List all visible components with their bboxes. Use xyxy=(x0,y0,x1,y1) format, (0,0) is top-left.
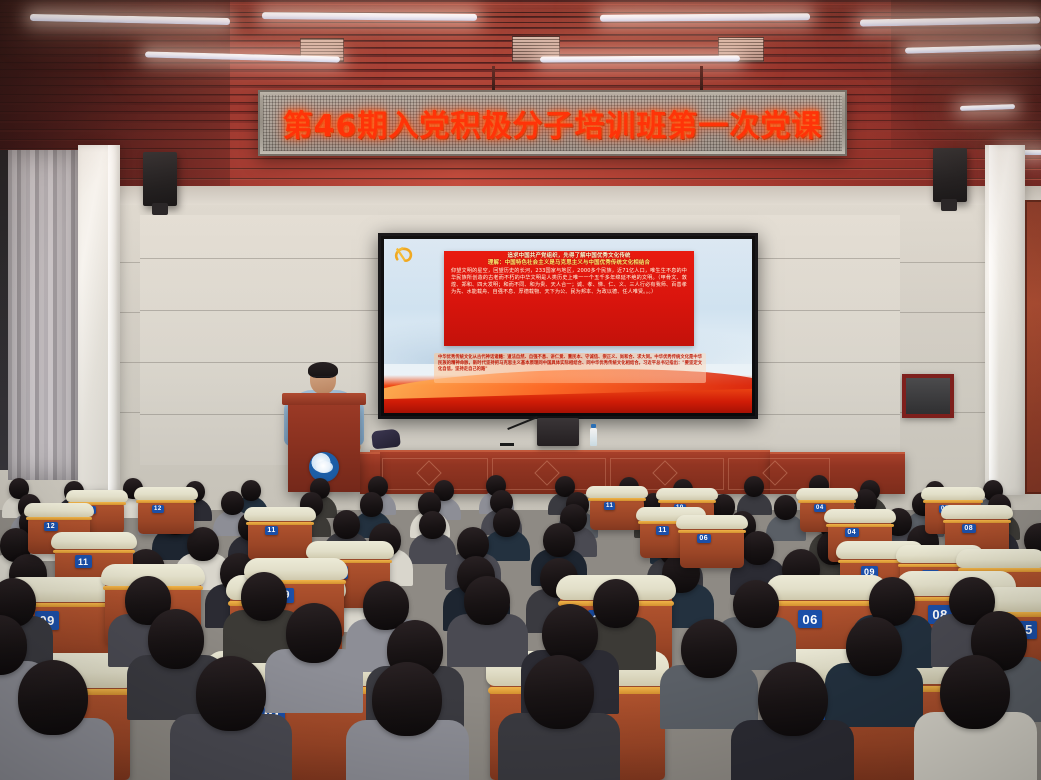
audience-head xyxy=(419,511,446,540)
seat-headrest xyxy=(586,486,648,498)
audience-head xyxy=(464,576,510,625)
slide-footer-text: 中华优秀传统文化从古代神话诸籍：道法自然、自强不息、讲仁爱、重民本、守诚信、崇正… xyxy=(438,355,702,374)
seat-headrest xyxy=(244,507,316,521)
auditorium-seat[interactable]: 11 xyxy=(590,490,644,530)
seat-number-plate: 12 xyxy=(152,505,164,513)
seat-headrest xyxy=(656,488,718,500)
seat-number-plate: 11 xyxy=(604,502,615,510)
right-pillar xyxy=(985,145,1025,495)
audience-head xyxy=(542,604,598,663)
audience-head xyxy=(196,656,266,730)
party-hammer-sickle-emblem xyxy=(392,245,418,267)
lecture-hall-photo: 第46期入党积极分子培训班第一次党课 追求中国共产党组织，先得了解中国优秀文化传… xyxy=(0,0,1041,780)
audience-head xyxy=(940,655,1010,729)
pillar-sheen-right xyxy=(989,145,999,495)
audience-member xyxy=(744,476,764,514)
audience-member xyxy=(493,508,520,559)
ceiling-light-6 xyxy=(540,55,740,62)
right-wall-display-panel xyxy=(902,374,954,418)
left-speaker-bracket xyxy=(152,203,168,215)
seat-trim-pipe xyxy=(246,522,314,525)
audience-head xyxy=(333,510,360,539)
seat-trim-pipe xyxy=(826,524,894,527)
audience-head xyxy=(846,617,902,676)
seat-trim-pipe xyxy=(588,498,646,501)
audience-member xyxy=(241,572,287,659)
stage-water-bottle xyxy=(590,428,597,446)
audience-head xyxy=(593,579,639,628)
seat-headrest xyxy=(921,487,985,500)
banner-support-right xyxy=(700,66,703,92)
auditorium-seat[interactable]: 06 xyxy=(680,520,744,568)
right-speaker-bracket xyxy=(941,199,957,211)
pillar-sheen-left xyxy=(108,145,118,490)
seat-headrest xyxy=(306,541,394,559)
left-wall-speaker xyxy=(143,152,177,206)
audience-head xyxy=(742,531,774,565)
seat-number-plate: 11 xyxy=(265,526,278,535)
audience-member xyxy=(286,603,342,709)
seat-headrest xyxy=(824,509,896,523)
stage-bottle-cap xyxy=(591,424,596,428)
projection-screen: 追求中国共产党组织，先得了解中国优秀文化传统 理解：中国特色社会主义是马克思主义… xyxy=(384,239,752,413)
seat-trim-pipe xyxy=(923,500,983,503)
seat-number-plate: 11 xyxy=(75,555,92,568)
left-curtain xyxy=(8,150,80,480)
right-wall-wood-trim xyxy=(1025,200,1041,494)
led-banner-text: 第46期入党积极分子培训班第一次党课 xyxy=(260,101,845,145)
seat-trim-pipe xyxy=(658,500,716,503)
audience-head xyxy=(774,495,797,519)
slide-title-line2: 理解：中国特色社会主义是马克思主义与中国优秀传统文化相结合 xyxy=(447,260,691,267)
audience-member xyxy=(419,511,446,562)
audience-head xyxy=(681,619,737,678)
slide-footer-block: 中华优秀传统文化从古代神话诸籍：道法自然、自强不息、讲仁爱、重民本、守诚信、崇正… xyxy=(434,353,706,383)
seat-trim-pipe xyxy=(26,517,92,520)
seat-headrest xyxy=(796,488,858,500)
seat-number-plate: 04 xyxy=(814,504,826,512)
led-banner: 第46期入党积极分子培训班第一次党课 xyxy=(258,90,847,156)
audience-head xyxy=(543,523,575,557)
audience-member xyxy=(774,495,797,539)
seat-headrest xyxy=(676,515,748,529)
seat-number-plate: 12 xyxy=(44,522,58,531)
auditorium-seat[interactable]: 12 xyxy=(138,492,194,534)
slide-title-line1: 追求中国共产党组织，先得了解中国优秀文化传统 xyxy=(447,253,691,260)
seat-headrest xyxy=(24,503,94,517)
seat-number-plate: 06 xyxy=(697,534,711,543)
projection-screen-frame: 追求中国共产党组织，先得了解中国优秀文化传统 理解：中国特色社会主义是马克思主义… xyxy=(378,233,758,419)
audience-member xyxy=(733,580,779,667)
slide-main-content-block: 追求中国共产党组织，先得了解中国优秀文化传统 理解：中国特色社会主义是马克思主义… xyxy=(444,251,694,346)
audience-member xyxy=(846,617,902,723)
audience-head xyxy=(524,655,594,729)
seat-headrest xyxy=(51,532,137,549)
audience-member xyxy=(758,662,828,780)
seat-number-plate: 11 xyxy=(656,526,669,535)
audience-head xyxy=(241,572,287,621)
seat-trim-pipe xyxy=(943,520,1011,523)
slide-body-text: 仰望文明的星空，回望历史的长河，233国家与地区，2000多个民族，近71亿人口… xyxy=(447,267,691,296)
banner-support-left xyxy=(492,66,495,92)
audience-head xyxy=(493,508,520,537)
auditorium-seat[interactable]: 11 xyxy=(248,512,312,560)
audience-head xyxy=(18,660,88,734)
presenter-glasses xyxy=(312,376,334,382)
audience-head xyxy=(360,492,383,516)
seat-headrest xyxy=(66,490,128,502)
seat-headrest xyxy=(956,549,1041,568)
seat-trim-pipe xyxy=(678,530,746,533)
seat-trim-pipe xyxy=(136,500,196,503)
audience-head xyxy=(744,476,764,497)
stage-monitor xyxy=(537,418,579,446)
audience-member xyxy=(372,662,442,780)
audience-head xyxy=(733,580,779,629)
stage-shoulder-bag xyxy=(371,429,401,450)
microphone-base xyxy=(500,443,514,446)
left-pillar xyxy=(78,145,120,490)
seat-trim-pipe xyxy=(53,550,135,553)
audience-head xyxy=(758,662,828,736)
audience-head xyxy=(286,603,342,662)
seat-trim-pipe xyxy=(798,500,856,503)
podium-top-surface xyxy=(282,393,366,405)
seat-number-plate: 06 xyxy=(798,610,822,629)
audience-member xyxy=(18,660,88,780)
seat-headrest xyxy=(941,505,1013,519)
seat-number-plate: 08 xyxy=(962,524,976,533)
ceiling-light-3 xyxy=(600,13,810,21)
audience-member xyxy=(524,655,594,780)
seat-headrest xyxy=(134,487,198,500)
audience-member xyxy=(196,656,266,780)
audience-member xyxy=(940,655,1010,780)
right-wall-speaker xyxy=(933,148,967,202)
seat-number-plate: 04 xyxy=(845,528,859,537)
audience-member xyxy=(681,619,737,725)
audience-member xyxy=(464,576,510,663)
audience-head xyxy=(372,662,442,736)
